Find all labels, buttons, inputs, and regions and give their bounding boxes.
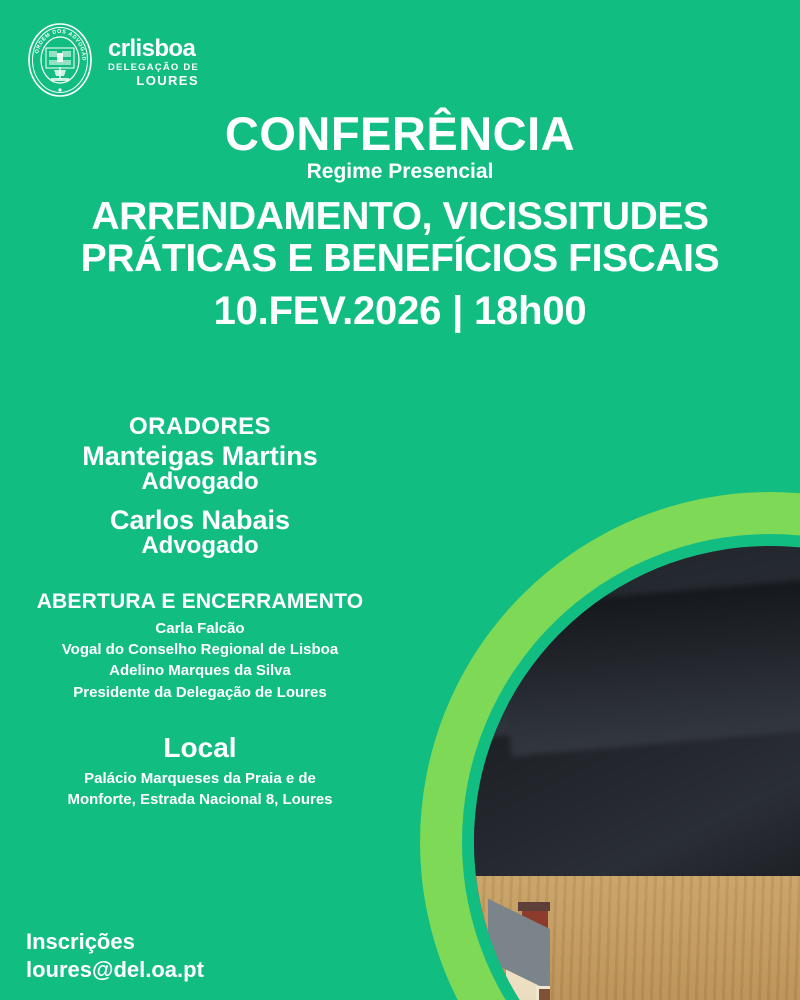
opening-role-2: Presidente da Delegação de Loures	[0, 684, 400, 701]
conference-poster: ORDEM DOS ADVOGADOS PORTUGUESES crlisboa…	[0, 0, 800, 1000]
speaker-role-1: Advogado	[0, 468, 400, 496]
speakers-heading: ORADORES	[0, 413, 400, 441]
registration-block: Inscrições loures@del.oa.pt	[26, 928, 204, 983]
event-type-title: CONFERÊNCIA	[0, 106, 800, 161]
opening-name-2: Adelino Marques da Silva	[0, 662, 400, 679]
venue-heading: Local	[0, 732, 400, 764]
photo-desk-grain-bleed	[550, 876, 800, 1000]
brand-delegation-name: LOURES	[108, 74, 199, 87]
photo-house-chimney-cap	[518, 902, 552, 911]
photo-bleed-corner	[550, 850, 800, 1000]
venue-address-line-1: Palácio Marqueses da Praia e de	[0, 770, 400, 787]
registration-email[interactable]: loures@del.oa.pt	[26, 956, 204, 984]
registration-label: Inscrições	[26, 928, 204, 956]
opening-role-1: Vogal do Conselho Regional de Lisboa	[0, 641, 400, 658]
brand-delegation-label: DELEGAÇÃO DE	[108, 63, 199, 73]
brand-logo: ORDEM DOS ADVOGADOS PORTUGUESES crlisboa…	[24, 20, 199, 100]
event-datetime: 10.FEV.2026 | 18h00	[0, 289, 800, 334]
event-format: Regime Presencial	[0, 160, 800, 184]
opening-heading: ABERTURA E ENCERRAMENTO	[0, 590, 400, 614]
bar-association-seal-icon: ORDEM DOS ADVOGADOS PORTUGUESES	[24, 20, 96, 100]
photo-scene-bleed	[550, 850, 800, 1000]
brand-wordmark: crlisboa DELEGAÇÃO DE LOURES	[108, 33, 199, 88]
event-subject-line-1: ARRENDAMENTO, VICISSITUDES	[0, 196, 800, 238]
event-subject: ARRENDAMENTO, VICISSITUDES PRÁTICAS E BE…	[0, 196, 800, 280]
speaker-role-2: Advogado	[0, 532, 400, 560]
venue-address-line-2: Monforte, Estrada Nacional 8, Loures	[0, 791, 400, 808]
brand-name: crlisboa	[108, 37, 199, 61]
opening-name-1: Carla Falcão	[0, 620, 400, 637]
event-subject-line-2: PRÁTICAS E BENEFÍCIOS FISCAIS	[0, 238, 800, 280]
artwork-photo-circle	[400, 470, 800, 1000]
